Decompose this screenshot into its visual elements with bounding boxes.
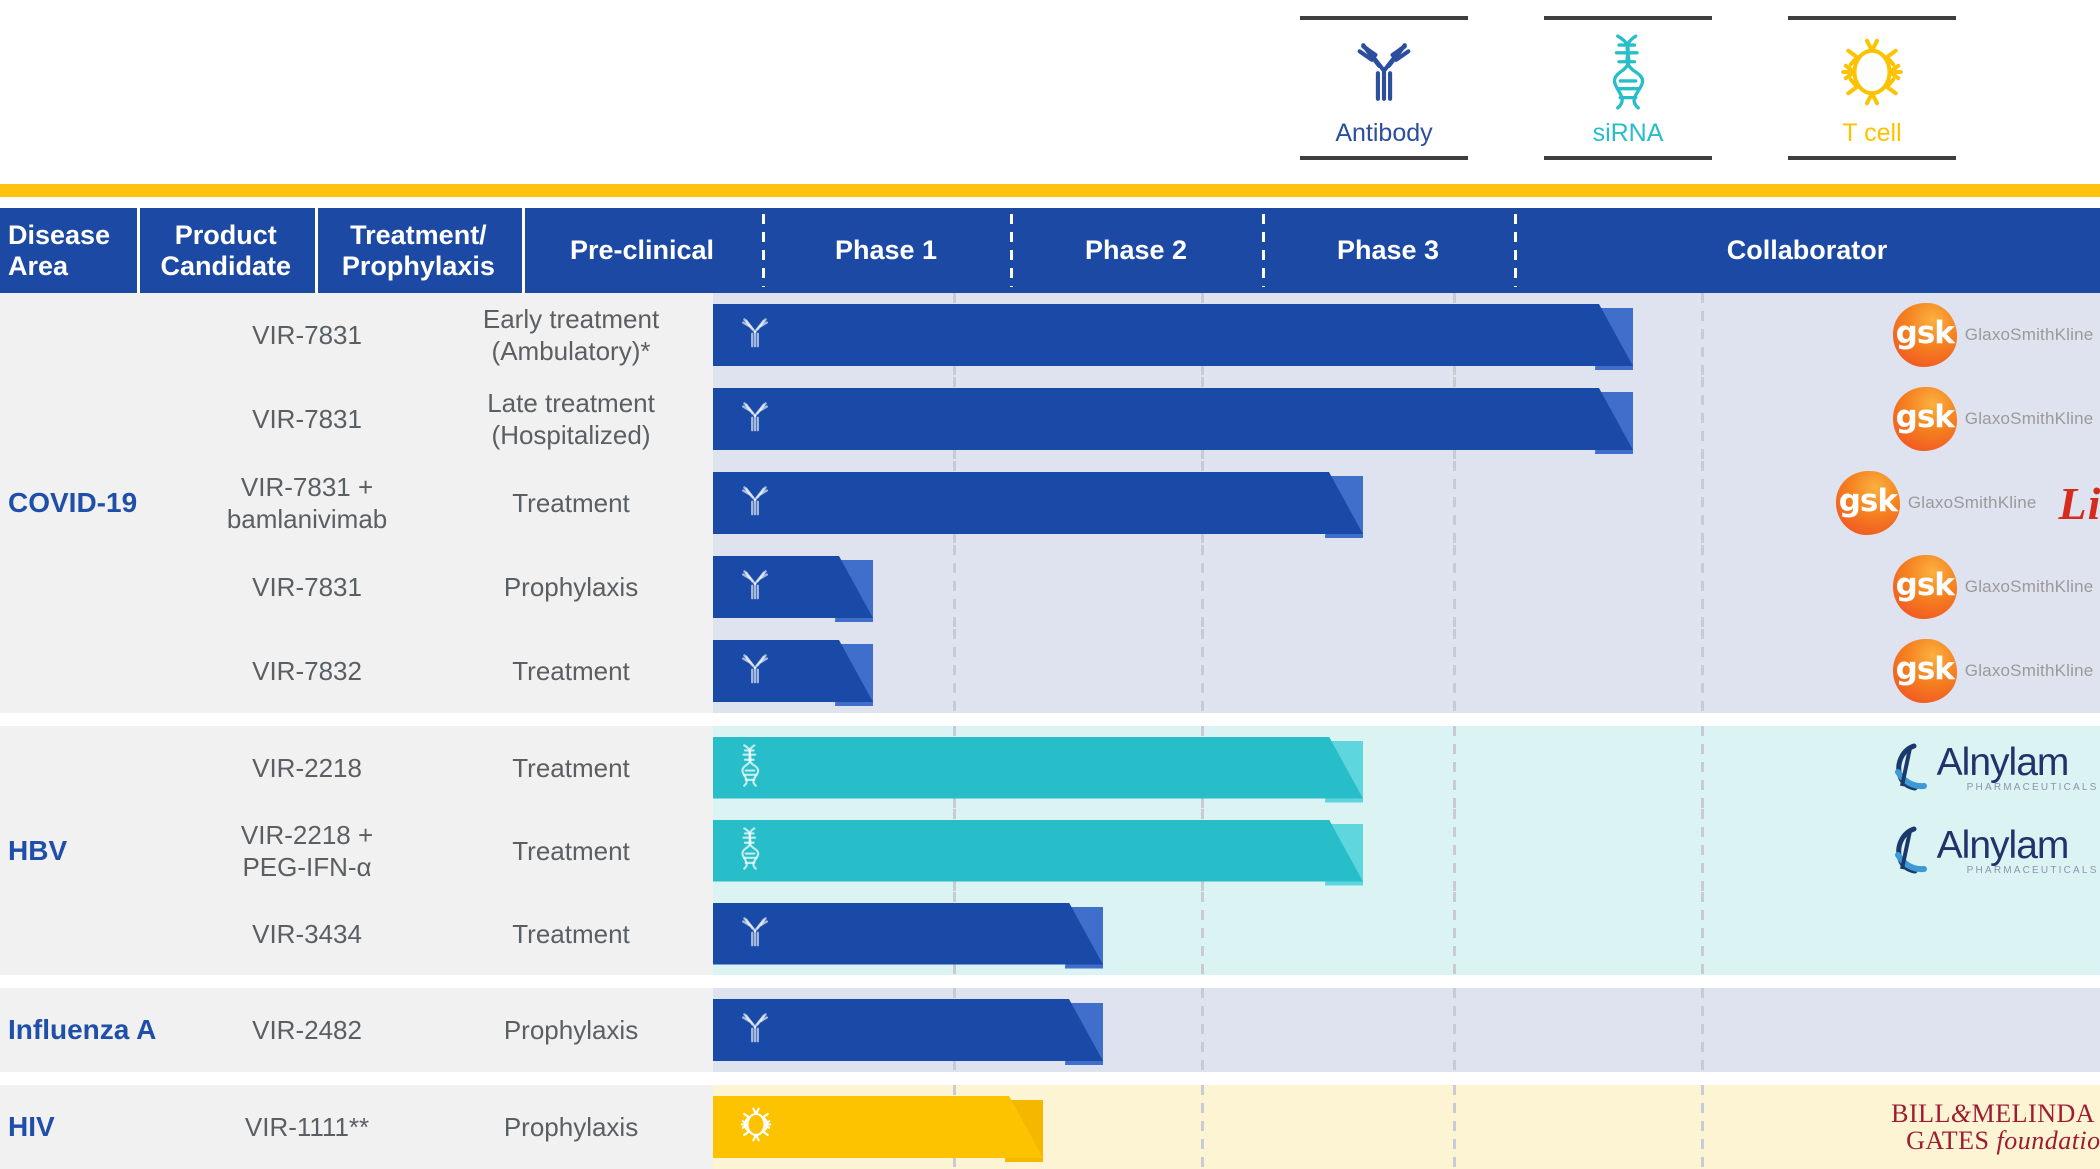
accent-rule	[0, 184, 2100, 197]
alnylam-subtitle: PHARMACEUTICALS	[1967, 783, 2099, 793]
sirna-icon	[735, 825, 765, 876]
progress-bar	[713, 903, 1103, 965]
bar-fill	[713, 737, 1363, 799]
legend-label-antibody: Antibody	[1335, 118, 1432, 148]
phase-track	[713, 809, 1701, 892]
pipeline-row[interactable]: VIR-2218TreatmentAlnylamPHARMACEUTICALS	[185, 726, 2100, 809]
gsk-logo: gskGlaxoSmithKline	[1893, 303, 2094, 367]
collaborator-cell	[1701, 988, 2100, 1072]
header-phase-2: Phase 2	[1010, 208, 1262, 293]
gridline	[1453, 988, 1456, 1072]
gsk-mark: gsk	[1893, 303, 1957, 367]
gsk-wordmark: GlaxoSmithKline	[1965, 661, 2094, 681]
gsk-mark: gsk	[1836, 471, 1900, 535]
product-candidate: VIR-2218 +PEG-IFN-α	[185, 809, 429, 892]
pipeline-row[interactable]: VIR-2482Prophylaxis	[185, 988, 2100, 1072]
legend-item-sirna: siRNA	[1544, 0, 1712, 178]
header-treatment-prophylaxis: Treatment/ Prophylaxis	[315, 208, 522, 293]
disease-group-influenza-a: Influenza AVIR-2482Prophylaxis	[0, 988, 2100, 1072]
modality-legend: Antibody siRNA	[1290, 0, 2100, 178]
treatment-prophylaxis: Treatment	[429, 629, 713, 713]
gsk-wordmark: GlaxoSmithKline	[1965, 409, 2094, 429]
product-candidate: VIR-2482	[185, 988, 429, 1072]
phase-track	[713, 461, 1701, 545]
antibody-icon	[735, 1008, 775, 1053]
progress-bar	[713, 999, 1103, 1061]
legend-rule-bottom	[1544, 156, 1712, 160]
collaborator-cell: gskGlaxoSmithKlineLilly	[1701, 461, 2100, 545]
alnylam-mark	[1888, 742, 1932, 794]
phase-track	[713, 1085, 1701, 1169]
pipeline-row[interactable]: VIR-1111**ProphylaxisBILL&MELINDAGATES f…	[185, 1085, 2100, 1169]
pipeline-table: Disease Area Product Candidate Treatment…	[0, 208, 2100, 1169]
product-candidate: VIR-7831	[185, 545, 429, 629]
disease-area-label: HIV	[0, 1085, 185, 1169]
gates-line-1: BILL&MELINDA	[1872, 1100, 2100, 1127]
phase-track	[713, 545, 1701, 629]
gridline	[1201, 1085, 1204, 1169]
bar-fill	[713, 388, 1633, 450]
legend-rule-top	[1300, 16, 1468, 20]
pipeline-row[interactable]: VIR-7831Early treatment(Ambulatory)*gskG…	[185, 293, 2100, 377]
antibody-icon	[735, 313, 775, 358]
legend-label-tcell: T cell	[1842, 118, 1901, 148]
progress-bar	[713, 1096, 1043, 1158]
gsk-mark: gsk	[1893, 555, 1957, 619]
progress-bar	[713, 388, 1633, 450]
gridline	[953, 629, 956, 713]
antibody-icon	[735, 481, 775, 526]
gridline	[1201, 988, 1204, 1072]
treatment-prophylaxis: Prophylaxis	[429, 545, 713, 629]
pipeline-row[interactable]: VIR-7831ProphylaxisgskGlaxoSmithKline	[185, 545, 2100, 629]
antibody-icon	[735, 397, 775, 442]
product-candidate: VIR-7832	[185, 629, 429, 713]
gridline	[1453, 892, 1456, 975]
treatment-prophylaxis: Prophylaxis	[429, 988, 713, 1072]
gsk-wordmark: GlaxoSmithKline	[1908, 493, 2037, 513]
header-disease-area: Disease Area	[0, 208, 137, 293]
antibody-icon	[735, 649, 775, 694]
gridline	[1453, 726, 1456, 809]
header-phase-1: Phase 1	[762, 208, 1010, 293]
phase-track	[713, 988, 1701, 1072]
gridline	[1201, 545, 1204, 629]
sirna-icon	[1599, 28, 1657, 116]
treatment-prophylaxis: Treatment	[429, 892, 713, 975]
antibody-icon	[735, 911, 775, 956]
progress-bar	[713, 737, 1363, 799]
disease-area-label: HBV	[0, 726, 185, 975]
treatment-prophylaxis: Late treatment(Hospitalized)	[429, 377, 713, 461]
pipeline-row[interactable]: VIR-7831 +bamlanivimabTreatmentgskGlaxoS…	[185, 461, 2100, 545]
collaborator-cell: BILL&MELINDAGATES foundation	[1701, 1085, 2100, 1169]
lilly-logo: Lilly	[2059, 477, 2100, 530]
progress-bar	[713, 820, 1363, 882]
bar-fill	[713, 472, 1363, 534]
bar-fill	[713, 820, 1363, 882]
disease-group-hiv: HIVVIR-1111**ProphylaxisBILL&MELINDAGATE…	[0, 1085, 2100, 1169]
product-candidate: VIR-1111**	[185, 1085, 429, 1169]
gridline	[1201, 629, 1204, 713]
treatment-prophylaxis: Treatment	[429, 809, 713, 892]
legend-label-sirna: siRNA	[1593, 118, 1664, 148]
table-header-row: Disease Area Product Candidate Treatment…	[0, 208, 2100, 293]
pipeline-row[interactable]: VIR-2218 +PEG-IFN-αTreatmentAlnylamPHARM…	[185, 809, 2100, 892]
gridline	[1201, 892, 1204, 975]
progress-bar	[713, 472, 1363, 534]
treatment-prophylaxis: Treatment	[429, 461, 713, 545]
collaborator-cell	[1701, 892, 2100, 975]
gridline	[1453, 545, 1456, 629]
legend-item-antibody: Antibody	[1300, 0, 1468, 178]
legend-rule-bottom	[1788, 156, 1956, 160]
alnylam-logo: AlnylamPHARMACEUTICALS	[1888, 825, 2099, 877]
progress-bar	[713, 640, 873, 702]
gsk-logo: gskGlaxoSmithKline	[1893, 639, 2094, 703]
product-candidate: VIR-2218	[185, 726, 429, 809]
treatment-prophylaxis: Prophylaxis	[429, 1085, 713, 1169]
pipeline-row[interactable]: VIR-3434Treatment	[185, 892, 2100, 975]
bar-fill	[713, 304, 1633, 366]
header-collaborator: Collaborator	[1514, 208, 2100, 293]
collaborator-cell: gskGlaxoSmithKline	[1701, 545, 2100, 629]
phase-track	[713, 293, 1701, 377]
antibody-icon	[735, 565, 775, 610]
disease-group-hbv: HBVVIR-2218TreatmentAlnylamPHARMACEUTICA…	[0, 726, 2100, 975]
phase-track	[713, 726, 1701, 809]
gridline	[1453, 629, 1456, 713]
disease-group-covid-19: COVID-19VIR-7831Early treatment(Ambulato…	[0, 293, 2100, 713]
gsk-mark: gsk	[1893, 387, 1957, 451]
pipeline-row[interactable]: VIR-7831Late treatment(Hospitalized)gskG…	[185, 377, 2100, 461]
sirna-icon	[735, 742, 765, 793]
gsk-wordmark: GlaxoSmithKline	[1965, 325, 2094, 345]
alnylam-name: Alnylam	[1937, 743, 2069, 782]
gsk-logo: gskGlaxoSmithKline	[1893, 555, 2094, 619]
collaborator-cell: gskGlaxoSmithKline	[1701, 377, 2100, 461]
gridline	[953, 545, 956, 629]
legend-rule-top	[1544, 16, 1712, 20]
disease-area-label: COVID-19	[0, 293, 185, 713]
collaborator-cell: gskGlaxoSmithKline	[1701, 629, 2100, 713]
treatment-prophylaxis: Treatment	[429, 726, 713, 809]
collaborator-cell: AlnylamPHARMACEUTICALS	[1701, 809, 2100, 892]
phase-track	[713, 892, 1701, 975]
gridline	[1453, 1085, 1456, 1169]
gridline	[1453, 809, 1456, 892]
phase-track	[713, 377, 1701, 461]
alnylam-mark	[1888, 825, 1932, 877]
antibody-icon	[1345, 28, 1423, 116]
collaborator-cell: AlnylamPHARMACEUTICALS	[1701, 726, 2100, 809]
header-phase-preclinical: Pre-clinical	[522, 208, 762, 293]
product-candidate: VIR-7831 +bamlanivimab	[185, 461, 429, 545]
gridline	[1453, 461, 1456, 545]
tcell-icon	[1832, 28, 1912, 116]
gsk-logo: gskGlaxoSmithKline	[1893, 387, 2094, 451]
gates-line-2: GATES foundation	[1872, 1127, 2100, 1154]
alnylam-subtitle: PHARMACEUTICALS	[1967, 866, 2099, 876]
gsk-logo: gskGlaxoSmithKline	[1836, 471, 2037, 535]
gsk-mark: gsk	[1893, 639, 1957, 703]
product-candidate: VIR-7831	[185, 293, 429, 377]
header-phase-3: Phase 3	[1262, 208, 1514, 293]
phase-track	[713, 629, 1701, 713]
tcell-icon	[735, 1104, 777, 1151]
pipeline-row[interactable]: VIR-7832TreatmentgskGlaxoSmithKline	[185, 629, 2100, 713]
legend-item-tcell: T cell	[1788, 0, 1956, 178]
gsk-wordmark: GlaxoSmithKline	[1965, 577, 2094, 597]
legend-rule-top	[1788, 16, 1956, 20]
alnylam-logo: AlnylamPHARMACEUTICALS	[1888, 742, 2099, 794]
product-candidate: VIR-7831	[185, 377, 429, 461]
product-candidate: VIR-3434	[185, 892, 429, 975]
gates-foundation-logo: BILL&MELINDAGATES foundation	[1872, 1100, 2100, 1155]
collaborator-cell: gskGlaxoSmithKline	[1701, 293, 2100, 377]
disease-area-label: Influenza A	[0, 988, 185, 1072]
treatment-prophylaxis: Early treatment(Ambulatory)*	[429, 293, 713, 377]
header-product-candidate: Product Candidate	[137, 208, 315, 293]
progress-bar	[713, 304, 1633, 366]
table-body: COVID-19VIR-7831Early treatment(Ambulato…	[0, 293, 2100, 1169]
legend-rule-bottom	[1300, 156, 1468, 160]
alnylam-name: Alnylam	[1937, 826, 2069, 865]
progress-bar	[713, 556, 873, 618]
